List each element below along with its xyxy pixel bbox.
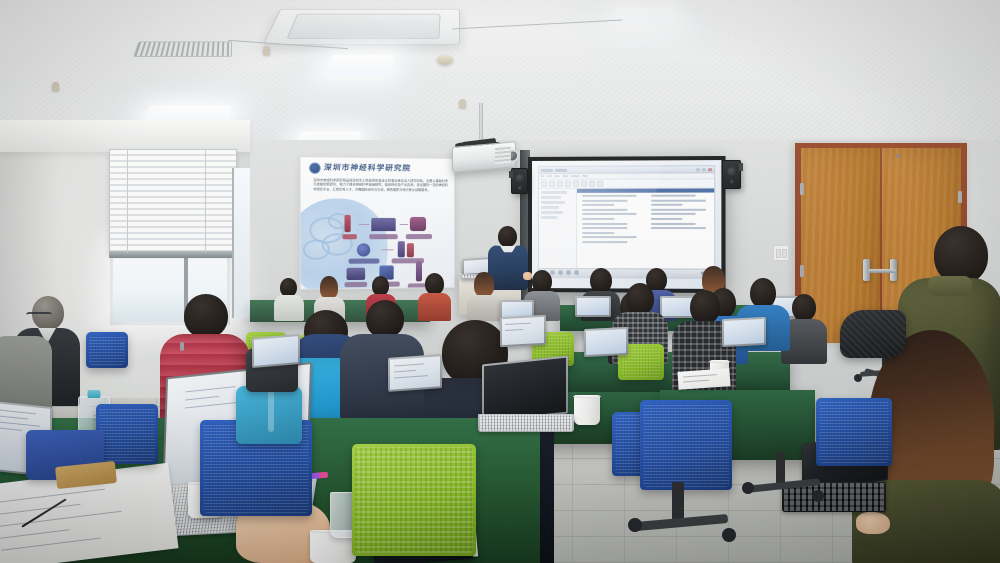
speaker-bracket xyxy=(739,163,743,171)
flow-label xyxy=(342,234,356,239)
toolbar-button[interactable] xyxy=(589,181,595,187)
light-switch-plate[interactable] xyxy=(773,245,789,261)
laptop-screen[interactable] xyxy=(390,356,440,389)
poster-body-text: 深圳市神经科学研究院是经深圳市人民政府批准设立的事业单位法人研究机构，主要从事脑… xyxy=(313,178,448,213)
chair-post xyxy=(776,452,785,486)
ceiling-soffit xyxy=(0,120,250,152)
jacket-on-chair xyxy=(840,310,906,358)
toolbar-button[interactable] xyxy=(549,181,555,187)
laptop-lid xyxy=(252,334,300,368)
flow-label xyxy=(369,234,398,239)
toolbar-button[interactable] xyxy=(541,181,547,187)
classroom-scene: 深圳市神经科学研究院 深圳市神经科学研究院是经深圳市人民政府批准设立的事业单位法… xyxy=(0,0,1000,563)
app-toolbar[interactable] xyxy=(539,179,715,189)
jacket-collar xyxy=(928,276,972,296)
chair-caster xyxy=(628,518,642,532)
attendee-head xyxy=(626,283,654,315)
speaker-driver-icon xyxy=(515,174,524,183)
ceiling-light-panel xyxy=(616,8,677,23)
chair-caster xyxy=(722,528,736,542)
laptop-screen[interactable] xyxy=(502,317,544,345)
attendee-head xyxy=(372,276,389,296)
projector-mount-pole xyxy=(479,103,483,143)
wall-speaker xyxy=(722,160,741,189)
flow-icon-figures xyxy=(407,243,414,257)
laptop-lid xyxy=(722,317,766,347)
projector-vent xyxy=(495,147,511,164)
bottle-cap[interactable] xyxy=(88,390,101,398)
toolbar-button[interactable] xyxy=(557,181,563,187)
laptop-lid xyxy=(482,355,568,422)
ac-unit-panel xyxy=(286,13,441,39)
menu-item-edit[interactable]: Edit xyxy=(547,175,551,178)
attendee-head xyxy=(792,294,816,321)
door-hinge xyxy=(800,183,804,195)
menu-item-file[interactable]: File xyxy=(541,175,545,178)
menu-item-view[interactable]: View xyxy=(555,175,560,178)
attendee-head xyxy=(184,294,228,338)
attendee-head xyxy=(425,273,444,295)
laptop-screen[interactable] xyxy=(724,319,764,345)
cup-rim xyxy=(573,395,601,398)
attendee-hand xyxy=(856,512,890,534)
chair-blue[interactable] xyxy=(640,400,732,490)
app-body xyxy=(539,189,715,269)
flow-icon-people xyxy=(410,217,426,231)
speaker-driver-icon xyxy=(727,167,737,177)
light-switch-button[interactable] xyxy=(782,249,787,258)
attendee-head xyxy=(320,276,338,299)
attendee-head xyxy=(366,300,404,338)
wall-speaker xyxy=(511,168,528,194)
output-navigator-pane[interactable] xyxy=(539,189,577,268)
notes-on-table[interactable] xyxy=(677,368,730,390)
poster-title: 深圳市神经科学研究院 xyxy=(323,162,451,176)
attendee-head xyxy=(474,272,494,297)
ceiling-light-panel xyxy=(326,55,395,76)
app-document-pane[interactable] xyxy=(577,189,715,269)
ceiling-ac-unit xyxy=(263,9,460,45)
chair-blue[interactable] xyxy=(96,404,158,464)
laptop-screen[interactable] xyxy=(484,358,566,421)
blinds-cord[interactable] xyxy=(205,149,206,253)
laptop-lid xyxy=(584,327,628,357)
flow-icon-tower xyxy=(344,215,350,232)
laptop-screen[interactable] xyxy=(586,329,626,355)
paper-cup[interactable] xyxy=(574,395,600,425)
blinds-bottom-rail[interactable] xyxy=(109,251,237,258)
flow-label xyxy=(406,234,432,239)
menu-item-analyze[interactable]: Analyze xyxy=(571,175,580,178)
laptop-keyboard[interactable] xyxy=(478,414,574,432)
venetian-blinds[interactable] xyxy=(109,149,237,253)
laptop-lid xyxy=(500,315,546,347)
document-header-bar xyxy=(577,189,715,193)
attendee-head xyxy=(750,278,776,308)
door-viewer-icon xyxy=(896,154,900,158)
sprinkler-head xyxy=(459,99,466,108)
menu-item-help[interactable]: Help xyxy=(582,175,587,178)
smoke-detector xyxy=(437,55,453,65)
chair-blue[interactable] xyxy=(86,332,128,368)
cup-rim xyxy=(709,360,730,363)
door-lever-handle[interactable] xyxy=(880,269,896,273)
chair-caster xyxy=(742,482,754,494)
laptop-screen[interactable] xyxy=(254,336,298,366)
attendee-head xyxy=(532,270,552,293)
sprinkler-head xyxy=(263,46,270,55)
flow-icon-globe xyxy=(357,243,370,256)
blinds-cord[interactable] xyxy=(127,149,128,253)
attendee-torso xyxy=(467,295,501,321)
attendee-head xyxy=(690,290,720,324)
chair-caster xyxy=(812,490,824,502)
presenter-head xyxy=(498,226,517,247)
toolbar-button[interactable] xyxy=(565,181,571,187)
laptop-lid xyxy=(388,354,442,392)
door-hinge xyxy=(958,191,962,203)
chair-blue[interactable] xyxy=(816,398,892,466)
flow-icon-building xyxy=(371,218,395,231)
speaker-tweeter-icon xyxy=(730,180,734,184)
toolbar-button[interactable] xyxy=(581,181,587,187)
flow-icon-figures xyxy=(398,241,405,257)
institute-emblem-icon xyxy=(309,162,320,173)
menu-item-data[interactable]: Data xyxy=(563,175,568,178)
speaker-tweeter-icon xyxy=(518,186,522,190)
sprinkler-head xyxy=(52,82,59,91)
light-switch-button[interactable] xyxy=(776,249,781,258)
chair-green-foreground[interactable] xyxy=(352,444,476,556)
toolbar-button[interactable] xyxy=(597,181,603,187)
backpack-strap xyxy=(268,390,274,432)
jacket-zipper-pull xyxy=(180,342,184,351)
speaker-bracket xyxy=(509,171,513,178)
air-vent-grille xyxy=(133,42,232,57)
toolbar-button[interactable] xyxy=(573,181,579,187)
